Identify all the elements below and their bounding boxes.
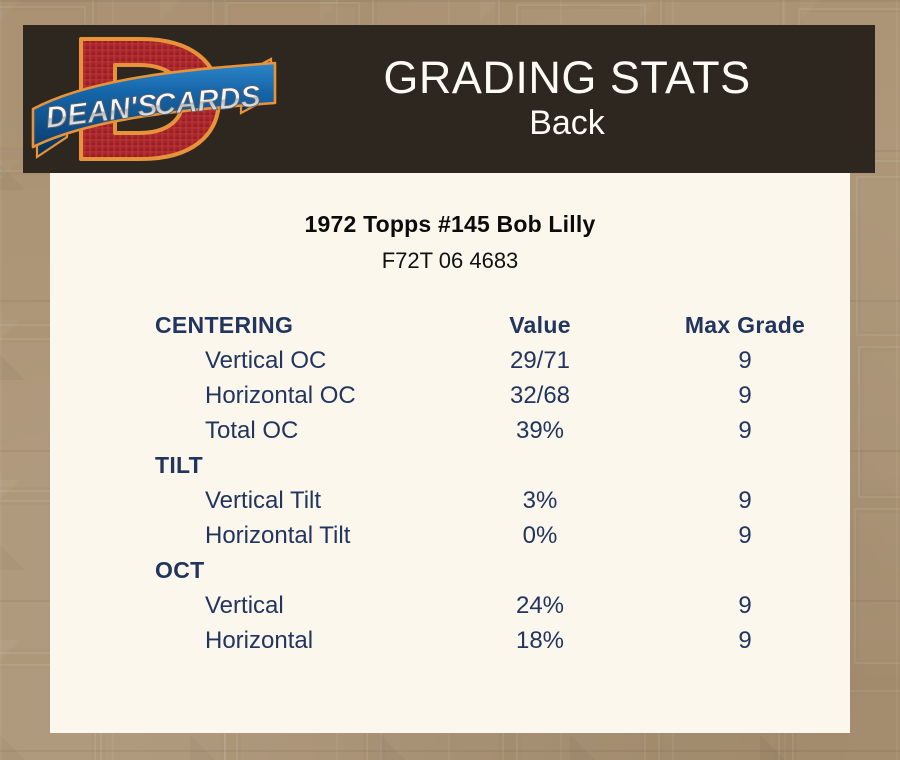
card-serial: F72T 06 4683 xyxy=(50,248,850,274)
stat-grade: 9 xyxy=(640,413,850,448)
stat-value: 18% xyxy=(440,623,640,658)
section-header-tilt: TILT xyxy=(50,448,850,483)
grading-stats-page: DEAN'S CARDS GRADING STATS Back 1972 Top… xyxy=(0,0,900,760)
stat-value: 39% xyxy=(440,413,640,448)
stat-value: 29/71 xyxy=(440,343,640,378)
page-header: DEAN'S CARDS GRADING STATS Back xyxy=(23,25,875,173)
section-header-oct: OCT xyxy=(50,553,850,588)
stat-label: Vertical Tilt xyxy=(50,483,440,518)
header-title-block: GRADING STATS Back xyxy=(285,55,875,144)
stat-label: Horizontal xyxy=(50,623,440,658)
section-title: TILT xyxy=(50,448,440,483)
stat-grade: 9 xyxy=(640,378,850,413)
stat-grade: 9 xyxy=(640,623,850,658)
column-header-max-grade: Max Grade xyxy=(640,308,850,343)
logo-wordmark: DEAN'S CARDS xyxy=(44,80,262,135)
table-header-row: CENTERING Value Max Grade xyxy=(50,308,850,343)
stat-value: 3% xyxy=(440,483,640,518)
table-row: Horizontal OC 32/68 9 xyxy=(50,378,850,413)
table-row: Horizontal Tilt 0% 9 xyxy=(50,518,850,553)
stat-grade: 9 xyxy=(640,483,850,518)
stat-label: Vertical OC xyxy=(50,343,440,378)
stat-grade: 9 xyxy=(640,588,850,623)
column-header-value: Value xyxy=(440,308,640,343)
stat-label: Vertical xyxy=(50,588,440,623)
stat-label: Horizontal Tilt xyxy=(50,518,440,553)
stat-label: Horizontal OC xyxy=(50,378,440,413)
grading-stats-table: CENTERING Value Max Grade Vertical OC 29… xyxy=(50,308,850,658)
stat-value: 32/68 xyxy=(440,378,640,413)
page-subtitle: Back xyxy=(285,103,849,143)
table-row: Vertical 24% 9 xyxy=(50,588,850,623)
column-header-centering: CENTERING xyxy=(50,308,440,343)
deans-cards-logo[interactable]: DEAN'S CARDS xyxy=(23,25,285,173)
section-title: OCT xyxy=(50,553,440,588)
stat-value: 24% xyxy=(440,588,640,623)
table-row: Vertical OC 29/71 9 xyxy=(50,343,850,378)
page-title: GRADING STATS xyxy=(285,55,849,102)
stat-label: Total OC xyxy=(50,413,440,448)
table-row: Total OC 39% 9 xyxy=(50,413,850,448)
table-row: Horizontal 18% 9 xyxy=(50,623,850,658)
card-name: 1972 Topps #145 Bob Lilly xyxy=(50,211,850,238)
stat-grade: 9 xyxy=(640,343,850,378)
content-panel: 1972 Topps #145 Bob Lilly F72T 06 4683 C… xyxy=(50,173,850,733)
table-row: Vertical Tilt 3% 9 xyxy=(50,483,850,518)
stat-grade: 9 xyxy=(640,518,850,553)
stat-value: 0% xyxy=(440,518,640,553)
